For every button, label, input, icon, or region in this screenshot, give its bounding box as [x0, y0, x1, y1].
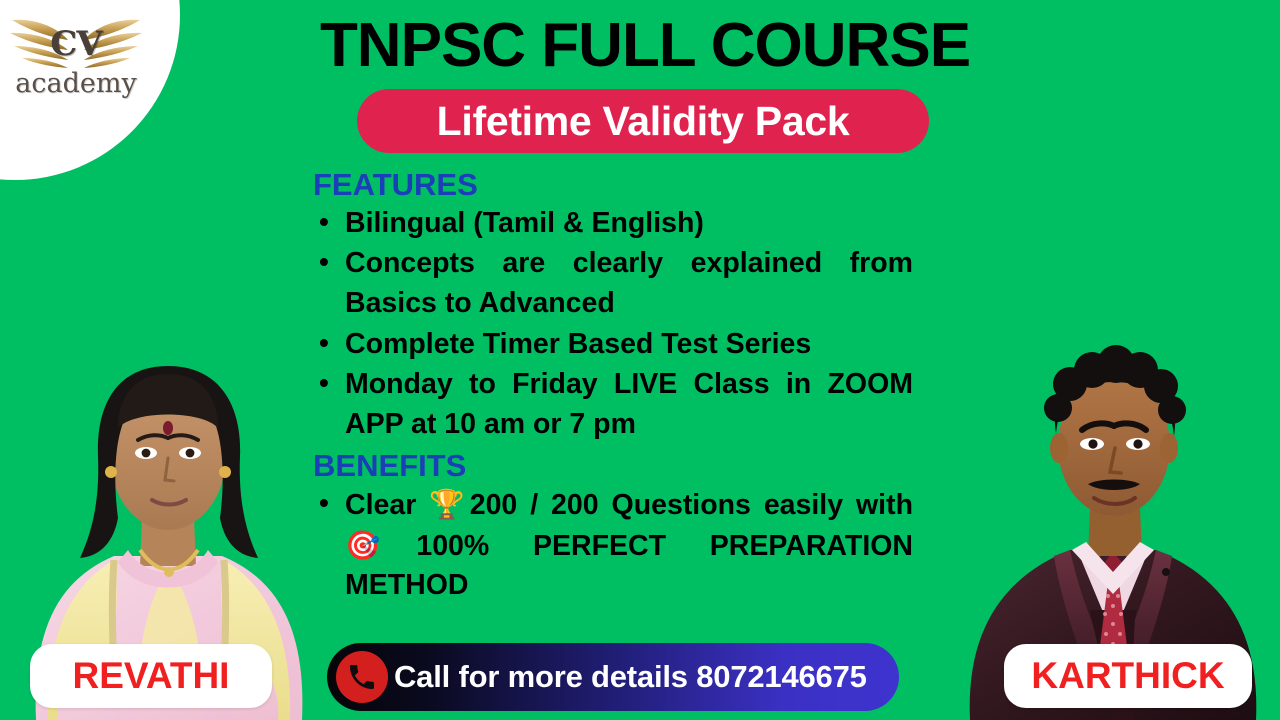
list-item: Clear 🏆200 / 200 Questions easily with🎯1… [313, 485, 913, 606]
logo-academy-text: academy [6, 68, 146, 99]
list-item: Bilingual (Tamil & English) [313, 204, 913, 244]
list-item: Monday to Friday LIVE Class in ZOOM APP … [313, 365, 913, 444]
instructor-name: KARTHICK [1031, 655, 1224, 697]
logo-cv-text: CV [6, 24, 146, 64]
brand-logo[interactable]: CV academy [6, 6, 146, 114]
benefits-heading: BENEFITS [313, 449, 913, 484]
features-list: Bilingual (Tamil & English) Concepts are… [313, 204, 913, 445]
lifetime-validity-badge: Lifetime Validity Pack [357, 89, 929, 153]
features-heading: FEATURES [313, 168, 913, 203]
benefit-text-part2: 200 / 200 Questions easily with [470, 489, 913, 521]
list-item: Complete Timer Based Test Series [313, 325, 913, 365]
nameplate-karthick: KARTHICK [1004, 644, 1252, 708]
trophy-icon: 🏆 [429, 488, 470, 521]
promo-poster: CV academy [0, 0, 1280, 720]
poster-title: TNPSC FULL COURSE [265, 14, 1025, 77]
phone-icon [336, 651, 388, 703]
list-item: Concepts are clearly explained from Basi… [313, 244, 913, 323]
offer-details: FEATURES Bilingual (Tamil & English) Con… [313, 168, 913, 607]
nameplate-revathi: REVATHI [30, 644, 272, 708]
badge-label: Lifetime Validity Pack [437, 98, 850, 145]
instructor-name: REVATHI [73, 655, 230, 697]
benefits-list: Clear 🏆200 / 200 Questions easily with🎯1… [313, 485, 913, 606]
benefit-text-part1: Clear [345, 489, 429, 521]
call-cta-text: Call for more details 8072146675 [394, 659, 867, 695]
call-cta-bar[interactable]: Call for more details 8072146675 [327, 643, 899, 711]
benefit-text-part3: 100% PERFECT PREPARATION METHOD [345, 530, 913, 602]
dart-icon: 🎯 [345, 529, 416, 562]
